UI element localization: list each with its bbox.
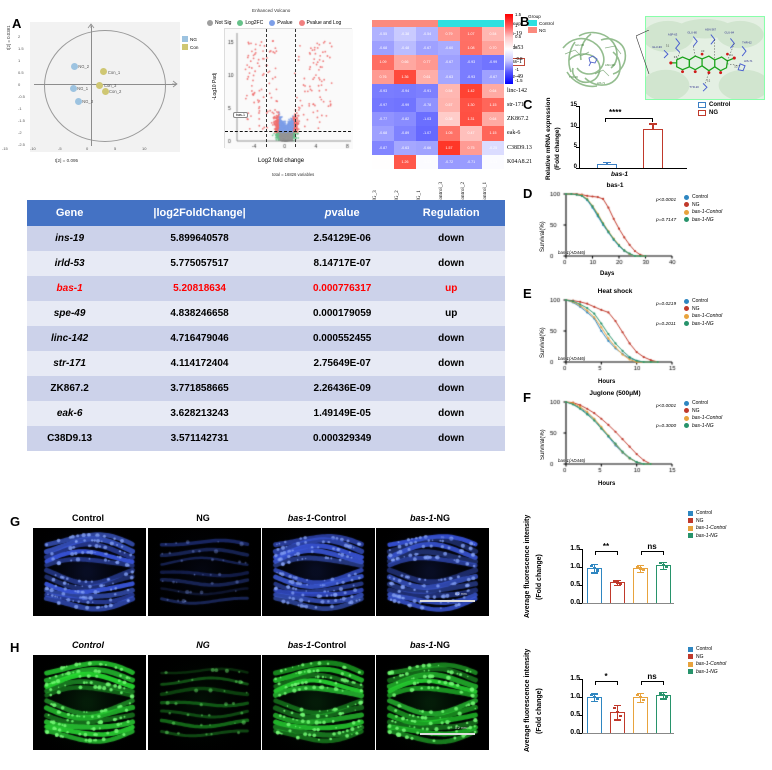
panel-g-y-tick: 0.0 xyxy=(562,599,580,606)
table-cell-pvalue: 2.54129E-06 xyxy=(287,226,398,251)
panel-g-y-axis xyxy=(582,549,583,603)
table-cell-pvalue: 0.000552455 xyxy=(287,326,398,351)
panel-f-title: Juglone (500μM) xyxy=(565,390,665,397)
table-cell-regulation: up xyxy=(397,276,505,301)
pca-plot: NG_2NG_1NG_3Con_1Con_3Con_2-15-10-505102… xyxy=(30,22,180,152)
panel-e-pvalue-2: p=0.2011 xyxy=(656,322,676,327)
heatmap-row: -0.93-0.94-0.910.541.420.64linc-142 xyxy=(372,84,532,98)
panel-h-data-point xyxy=(613,707,615,709)
pca-y-tick: -2.5 xyxy=(18,142,25,147)
zoom-connector-lines xyxy=(636,30,650,76)
heatmap-group-cell-ng xyxy=(416,20,438,27)
panel-e-legend-bas1-ng: bas-1-NG xyxy=(684,321,722,327)
panel-h-y-axis-label-1: Average fluorescence intensity xyxy=(524,649,531,752)
heatmap-cell: -0.67 xyxy=(438,55,460,69)
heatmap-group-cell-ng xyxy=(394,20,416,27)
panel-e-x-axis-label: Hours xyxy=(598,379,615,385)
svg-text:GLU-84: GLU-84 xyxy=(725,31,735,35)
heatmap-group-cell-control xyxy=(438,20,460,27)
heatmap-cell: -0.68 xyxy=(372,41,394,55)
panel-g-data-point xyxy=(636,566,638,568)
panel-letter-a: A xyxy=(12,16,21,31)
panel-g-image-bas1-ng xyxy=(376,528,489,616)
heatmap-cell: 0.75 xyxy=(460,141,482,155)
pca-legend-label-ng: NG xyxy=(190,37,197,42)
heatmap-cell: 0.47 xyxy=(460,126,482,140)
heatmap-cell: 0.54 xyxy=(438,84,460,98)
panel-h-label-control: Control xyxy=(33,640,143,650)
heatmap-cell: 1.05 xyxy=(438,126,460,140)
volcano-annotation-bas1: bas-1 xyxy=(233,112,248,118)
table-cell-gene: irld-53 xyxy=(27,251,112,276)
pca-y-tick: 2 xyxy=(18,34,20,39)
heatmap-group-cell-ng xyxy=(372,20,394,27)
heatmap-row: -0.77-0.82-1.030.381.310.64ZK867.2 xyxy=(372,112,532,126)
panel-d-x-axis-label: Days xyxy=(600,271,614,277)
pca-point-label-ng_3: NG_3 xyxy=(82,99,93,104)
panel-e-title: Heat shock xyxy=(570,288,660,295)
panel-f-strain-label: bas-1(AD446) xyxy=(558,458,585,463)
panel-f-legend-bas1-control: bas-1-Control xyxy=(684,415,722,421)
panel-f-pvalue-2: p=0.3000 xyxy=(656,424,676,429)
heatmap-row-label-linc-142: linc-142 xyxy=(504,88,527,94)
svg-text:ASP-63: ASP-63 xyxy=(668,33,678,37)
table-cell-gene: spe-49 xyxy=(27,301,112,326)
panel-h-errorbar-cap xyxy=(591,701,598,702)
volcano-legend-pvalue-log: Pvalue and Log xyxy=(299,20,342,26)
pca-y-tick: 1 xyxy=(18,58,20,63)
table-cell-regulation: down xyxy=(397,351,505,376)
panel-c-y-axis xyxy=(579,106,580,168)
table-cell-regulation: down xyxy=(397,326,505,351)
heatmap-cell: 1.30 xyxy=(460,98,482,112)
heatmap-colorbar-tick: -1 xyxy=(515,67,519,72)
panel-d-strain-label: bas-1(AD446) xyxy=(558,250,585,255)
panel-h-data-point xyxy=(662,694,664,696)
panel-g-y-tickmark xyxy=(579,585,582,586)
heatmap-cell: -0.93 xyxy=(460,55,482,69)
panel-h-label-bas1-ng: bas-1-NG xyxy=(375,640,485,650)
panel-e-legend-ng: NG xyxy=(684,306,722,312)
table-row: bas-15.208186340.000776317up xyxy=(27,276,505,301)
pca-y-tick: -0.5 xyxy=(18,94,25,99)
svg-text:GLU-93: GLU-93 xyxy=(652,45,662,49)
pca-x-tick: 0 xyxy=(86,146,88,151)
pca-y-tick: -2 xyxy=(18,130,22,135)
pca-x-tick: 5 xyxy=(114,146,116,151)
panel-h-y-axis xyxy=(582,679,583,733)
panel-g-data-point xyxy=(593,567,595,569)
pca-y-axis-title: t[2] = 0.0381 xyxy=(6,25,11,50)
heatmap-row: -0.68-0.89-1.071.050.471.15eak-6 xyxy=(372,126,532,140)
panel-c-legend: Control NG xyxy=(698,102,730,117)
panel-c-bar-control xyxy=(597,164,617,168)
panel-g-scalebar xyxy=(420,600,475,602)
heatmap-cell: -1.07 xyxy=(416,126,438,140)
heatmap-cell: -0.55 xyxy=(372,27,394,41)
panel-c-significance: **** xyxy=(609,108,621,117)
heatmap-cell: -0.67 xyxy=(482,70,504,84)
table-header-regulation: Regulation xyxy=(397,200,505,226)
volcano-fc-threshold-left xyxy=(266,29,267,147)
table-cell-log2fc: 4.716479046 xyxy=(112,326,287,351)
svg-text:ASN-367: ASN-367 xyxy=(705,28,717,32)
panel-h-data-point xyxy=(639,696,641,698)
heatmap-cell: -0.63 xyxy=(438,70,460,84)
panel-c-significance-bracket xyxy=(605,118,653,122)
panel-h-data-point xyxy=(596,698,598,700)
heatmap-cell: 0.70 xyxy=(482,41,504,55)
panel-d-pvalue-1: p<0.0001 xyxy=(656,198,676,203)
heatmap-colorbar-tick: 0.5 xyxy=(515,34,521,39)
heatmap-column-label-control_2: Control_2 xyxy=(460,169,482,203)
heatmap-cell: 0.61 xyxy=(416,70,438,84)
panel-h-errorbar-cap xyxy=(660,698,667,699)
table-cell-log2fc: 4.114172404 xyxy=(112,351,287,376)
panel-g-label-bas1-control: bas-1-Control xyxy=(262,513,372,523)
panel-g-image-bas1-control xyxy=(262,528,375,616)
panel-h-x-axis xyxy=(582,733,674,734)
table-row: str-1714.1141724042.75649E-07down xyxy=(27,351,505,376)
heatmap-group-cell-control xyxy=(482,20,504,27)
panel-g-data-point xyxy=(596,569,598,571)
table-cell-gene: eak-6 xyxy=(27,401,112,426)
svg-text:HIS-71: HIS-71 xyxy=(744,59,753,63)
svg-text:GLU-80: GLU-80 xyxy=(575,43,585,47)
svg-text:ASN-367: ASN-367 xyxy=(605,63,616,67)
heatmap-cell: 0.38 xyxy=(438,112,460,126)
table-cell-log2fc: 5.899640578 xyxy=(112,226,287,251)
svg-text:TYR-20: TYR-20 xyxy=(569,75,578,79)
panel-c-bar-ng xyxy=(643,129,663,168)
panel-c-x-axis xyxy=(579,168,687,169)
panel-letter-f: F xyxy=(523,390,531,405)
panel-h-data-point xyxy=(616,711,618,713)
panel-g-legend-control: Control xyxy=(688,510,726,516)
heatmap-row-label-str-171: str-171 xyxy=(504,102,524,108)
panel-h-significance-label: ns xyxy=(647,672,657,681)
panel-g-data-point xyxy=(642,569,644,571)
panel-f-y-axis-label: Survival(%) xyxy=(540,429,546,460)
panel-f-legend-bas1-ng: bas-1-NG xyxy=(684,423,722,429)
heatmap-cell: 0.01 xyxy=(372,155,394,169)
pca-point-label-con_1: Con_1 xyxy=(108,70,120,75)
panel-g-y-axis-label-2: (Fold change) xyxy=(536,554,543,600)
panel-g-label-ng: NG xyxy=(148,513,258,523)
table-row: eak-63.6282132431.49149E-05down xyxy=(27,401,505,426)
heatmap-cell: -0.63 xyxy=(394,141,416,155)
docking-binding-site: ASP-63 GLU-80 ASN-367 GLU-84 GLU-93 THR-… xyxy=(645,16,765,100)
table-cell-gene: linc-142 xyxy=(27,326,112,351)
heatmap-cell: 1.09 xyxy=(372,55,394,69)
heatmap-colorbar-tick: 1.5 xyxy=(515,12,521,17)
panel-letter-h: H xyxy=(10,640,19,655)
panel-g-y-tick: 1.0 xyxy=(562,563,580,570)
pca-y-tick: 0.5 xyxy=(18,70,24,75)
panel-h-legend-bas1-control: bas-1-Control xyxy=(688,661,726,667)
panel-c-errorbar-cap xyxy=(649,123,657,124)
panel-g-significance-label: ** xyxy=(601,542,611,551)
heatmap-row-label-k04a8-21: K04A8.21 xyxy=(504,159,532,165)
table-row: ins-195.8996405782.54129E-06down xyxy=(27,226,505,251)
panel-h-image-bas1-ng xyxy=(376,655,489,750)
panel-h-data-point xyxy=(642,699,644,701)
volcano-legend-log2fc: Log2FC xyxy=(237,20,263,26)
table-cell-gene: ins-19 xyxy=(27,226,112,251)
heatmap-colorbar xyxy=(505,14,513,84)
table-cell-gene: C38D9.13 xyxy=(27,426,112,451)
panel-f-legend-control: Control xyxy=(684,400,722,406)
table-cell-gene: ZK867.2 xyxy=(27,376,112,401)
table-cell-pvalue: 0.000776317 xyxy=(287,276,398,301)
panel-h-errorbar-cap xyxy=(614,719,621,720)
table-row: ZK867.23.7718586652.26436E-09down xyxy=(27,376,505,401)
heatmap-cell: -1.03 xyxy=(416,112,438,126)
panel-h-errorbar-cap xyxy=(614,705,621,706)
panel-c-y-tickmark xyxy=(576,127,579,128)
svg-text:TYR-20: TYR-20 xyxy=(689,85,699,89)
panel-e-strain-label: bas-1(AD446) xyxy=(558,356,585,361)
heatmap-cell: 0.57 xyxy=(438,98,460,112)
panel-c-y-tickmark xyxy=(576,147,579,148)
pca-point-ng_1 xyxy=(70,85,77,92)
heatmap-cell: -0.93 xyxy=(460,70,482,84)
heatmap-cell: -0.82 xyxy=(394,112,416,126)
table-cell-pvalue: 0.000329349 xyxy=(287,426,398,451)
pca-y-tick: -1 xyxy=(18,106,22,111)
heatmap-cell: 0.64 xyxy=(482,112,504,126)
panel-e-survival-chart xyxy=(548,296,678,374)
panel-h-chart-legend: Control NG bas-1-Control bas-1-NG xyxy=(688,646,726,676)
heatmap-column-labels: NG_3NG_2NG_1Control_3Control_2Control_1 xyxy=(372,169,532,203)
panel-g-y-tickmark xyxy=(579,549,582,550)
heatmap-cell: -0.72 xyxy=(438,155,460,169)
panel-h-data-point xyxy=(659,692,661,694)
panel-e-legend-bas1-control: bas-1-Control xyxy=(684,313,722,319)
table-cell-regulation: down xyxy=(397,401,505,426)
heatmap-row-label-zk867-2: ZK867.2 xyxy=(504,116,529,122)
panel-h-y-tick: 1.0 xyxy=(562,693,580,700)
heatmap-colorbar-tick: 1 xyxy=(515,23,517,28)
pca-x-tick: -10 xyxy=(30,146,36,151)
table-header-gene: Gene xyxy=(27,200,112,226)
pca-x-tick: -15 xyxy=(2,146,8,151)
panel-h-bar-bas-1-ng xyxy=(656,695,671,733)
panel-g-x-axis xyxy=(582,603,674,604)
table-cell-gene: str-171 xyxy=(27,351,112,376)
heatmap-cell: 1.08 xyxy=(460,41,482,55)
panel-g-y-axis-label-1: Average fluorescence intensity xyxy=(524,515,531,618)
panel-h-significance-bracket xyxy=(641,681,664,685)
volcano-total-variables: total = 16826 variables xyxy=(272,172,314,177)
heatmap-cell: -0.67 xyxy=(416,41,438,55)
heatmap-cell: -0.89 xyxy=(394,126,416,140)
panel-c-y-tick: 0 xyxy=(565,164,577,170)
panel-c-x-label: bas-1 xyxy=(611,171,628,178)
heatmap-cell: 1.15 xyxy=(482,126,504,140)
table-cell-pvalue: 8.14717E-07 xyxy=(287,251,398,276)
pca-point-ng_2 xyxy=(71,63,78,70)
table-header-log2fc: |log2FoldChange| xyxy=(112,200,287,226)
panel-g-y-tickmark xyxy=(579,567,582,568)
heatmap-group-cell-control xyxy=(460,20,482,27)
panel-c-legend-control: Control xyxy=(698,102,730,108)
panel-h-y-tick: 0.0 xyxy=(562,729,580,736)
heatmap-cell: -0.03 xyxy=(482,155,504,169)
panel-c-errorbar-cap xyxy=(603,162,611,163)
heatmap-cell: -0.99 xyxy=(482,55,504,69)
panel-f-canvas xyxy=(548,398,678,476)
pca-point-con_2 xyxy=(102,88,109,95)
panel-h-y-axis-label-2: (Fold change) xyxy=(536,688,543,734)
panel-h-y-tickmark xyxy=(579,733,582,734)
panel-h-image-control xyxy=(33,655,146,750)
volcano-legend-pvalue: Pvalue xyxy=(269,20,292,26)
panel-g-y-tick: 1.5 xyxy=(562,545,580,552)
table-cell-pvalue: 2.75649E-07 xyxy=(287,351,398,376)
panel-letter-b: B xyxy=(520,14,529,29)
heatmap-cell: -0.94 xyxy=(394,84,416,98)
pca-legend: NG Con xyxy=(182,36,198,52)
volcano-fc-threshold-right xyxy=(295,29,296,147)
panel-g-errorbar-cap xyxy=(660,569,667,570)
panel-e-legend: Control NG bas-1-Control bas-1-NG xyxy=(684,298,722,328)
pca-y-tick: 0 xyxy=(18,82,20,87)
panel-f-legend: Control NG bas-1-Control bas-1-NG xyxy=(684,400,722,430)
volcano-plot: bas-1 xyxy=(224,28,352,148)
deg-table: Gene |log2FoldChange| pvalue Regulation … xyxy=(27,200,505,451)
panel-g-data-point xyxy=(613,580,615,582)
panel-c-y-label-1: Relative mRNA expression xyxy=(545,98,552,181)
panel-g-data-point xyxy=(659,562,661,564)
panel-h-image-ng xyxy=(148,655,261,750)
table-cell-log2fc: 4.838246658 xyxy=(112,301,287,326)
heatmap-cell: 0.64 xyxy=(482,84,504,98)
pca-point-label-con_2: Con_2 xyxy=(109,89,121,94)
heatmap-cell: -0.77 xyxy=(372,112,394,126)
panel-f-x-axis-label: Hours xyxy=(598,481,615,487)
panel-d-legend-bas1-control: bas-1-Control xyxy=(684,209,722,215)
pca-y-tick: 1.5 xyxy=(18,46,24,51)
heatmap-row: -0.97-0.99-0.780.571.301.15str-171 xyxy=(372,98,532,112)
pca-point-ng_3 xyxy=(75,98,82,105)
panel-e-y-axis-label: Survival(%) xyxy=(540,327,546,358)
table-cell-log2fc: 5.20818634 xyxy=(112,276,287,301)
panel-h-y-tick: 1.5 xyxy=(562,675,580,682)
heatmap-cell: 1.26 xyxy=(394,155,416,169)
heatmap-row-label-c38d9-13: C38D9.13 xyxy=(504,145,532,151)
heatmap-column-label-ng_1: NG_1 xyxy=(416,169,438,203)
panel-e-canvas xyxy=(548,296,678,374)
panel-g-data-point xyxy=(619,583,621,585)
panel-d-pvalue-2: p=0.7147 xyxy=(656,218,676,223)
heatmap-colorbar-tick: -0.5 xyxy=(515,56,523,61)
heatmap-row: -0.87-0.63-0.661.570.75-0.25C38D9.13 xyxy=(372,141,532,155)
heatmap-column-label-control_1: Control_1 xyxy=(482,169,504,203)
pca-x-axis-title: t[2] = 0.095 xyxy=(55,158,78,163)
panel-g-data-point xyxy=(662,564,664,566)
panel-letter-d: D xyxy=(523,186,532,201)
panel-h-errorbar-cap xyxy=(637,702,644,703)
panel-h-scalebar xyxy=(420,733,475,735)
heatmap-colorbar-tick: 0 xyxy=(515,45,517,50)
panel-g-label-control: Control xyxy=(33,513,143,523)
heatmap-cell: 1.15 xyxy=(482,98,504,112)
panel-h-bar-chart: 1.51.00.50.0*ns xyxy=(560,665,680,743)
panel-h-data-point xyxy=(593,696,595,698)
panel-f-survival-chart xyxy=(548,398,678,476)
panel-f-pvalue-1: p<0.0001 xyxy=(656,404,676,409)
panel-g-data-point xyxy=(639,567,641,569)
panel-g-label-bas1-ng: bas-1-NG xyxy=(375,513,485,523)
svg-text:THR-62: THR-62 xyxy=(742,40,752,44)
table-cell-regulation: down xyxy=(397,226,505,251)
panel-h-y-tickmark xyxy=(579,715,582,716)
table-cell-log2fc: 5.775057517 xyxy=(112,251,287,276)
table-cell-regulation: up xyxy=(397,301,505,326)
panel-d-legend-control: Control xyxy=(684,194,722,200)
heatmap-cell: -0.97 xyxy=(372,98,394,112)
heatmap-cell: -0.48 xyxy=(394,41,416,55)
heatmap-cell: -0.87 xyxy=(372,141,394,155)
heatmap-row-label-eak-6: eak-6 xyxy=(504,130,520,136)
panel-h-bar-control xyxy=(587,697,602,733)
svg-text:HIS-71: HIS-71 xyxy=(597,81,606,85)
panel-c-bar-chart: 151050****bas-1Relative mRNA expression(… xyxy=(543,100,693,182)
panel-g-significance-bracket xyxy=(595,551,618,555)
panel-e-pvalue-1: p=0.0219 xyxy=(656,302,676,307)
heatmap-cell: -0.93 xyxy=(372,84,394,98)
panel-g-errorbar-cap xyxy=(637,572,644,573)
heatmap-cell: 1.07 xyxy=(460,27,482,41)
table-cell-pvalue: 0.000179059 xyxy=(287,301,398,326)
table-cell-log2fc: 3.771858665 xyxy=(112,376,287,401)
panel-c-y-tick: 5 xyxy=(565,143,577,149)
panel-h-significance-bracket xyxy=(595,681,618,685)
heatmap-cell: 0.66 xyxy=(394,55,416,69)
heatmap-cell: 1.42 xyxy=(460,84,482,98)
panel-c-legend-ng: NG xyxy=(698,110,730,116)
panel-h-data-point xyxy=(665,696,667,698)
panel-h-label-ng: NG xyxy=(148,640,258,650)
panel-h-data-point xyxy=(590,694,592,696)
panel-g-y-tick: 0.5 xyxy=(562,581,580,588)
pca-legend-item-ng: NG xyxy=(182,36,198,42)
panel-g-bar-bas-1-control xyxy=(633,568,648,603)
panel-d-y-axis-label: Survival(%) xyxy=(540,221,546,252)
panel-c-y-tickmark xyxy=(576,168,579,169)
heatmap-cell: -0.60 xyxy=(438,41,460,55)
heatmap-cell: -0.38 xyxy=(394,27,416,41)
panel-h-data-point xyxy=(636,694,638,696)
volcano-legend-not-sig: Not Sig xyxy=(207,20,231,26)
heatmap-cell: 0.76 xyxy=(372,70,394,84)
panel-h-significance-label: * xyxy=(601,672,611,681)
panel-letter-c: C xyxy=(523,97,532,112)
panel-g-legend-bas1-ng: bas-1-NG xyxy=(688,533,726,539)
panel-letter-g: G xyxy=(10,514,20,529)
protein-structure-cartoon: GLU-80 ASN-367 TYR-20 HIS-71 xyxy=(545,18,640,100)
panel-g-scalebar-label: 0.2 mm xyxy=(455,592,467,596)
panel-c-y-label-2: (Fold change) xyxy=(554,127,561,170)
panel-g-data-point xyxy=(665,566,667,568)
pca-legend-label-con: Con xyxy=(190,45,198,50)
heatmap-cell: -0.99 xyxy=(394,98,416,112)
pca-y-tick: -1.5 xyxy=(18,118,25,123)
panel-d-legend-bas1-ng: bas-1-NG xyxy=(684,217,722,223)
panel-g-data-point xyxy=(590,565,592,567)
heatmap-cell: -0.25 xyxy=(482,141,504,155)
